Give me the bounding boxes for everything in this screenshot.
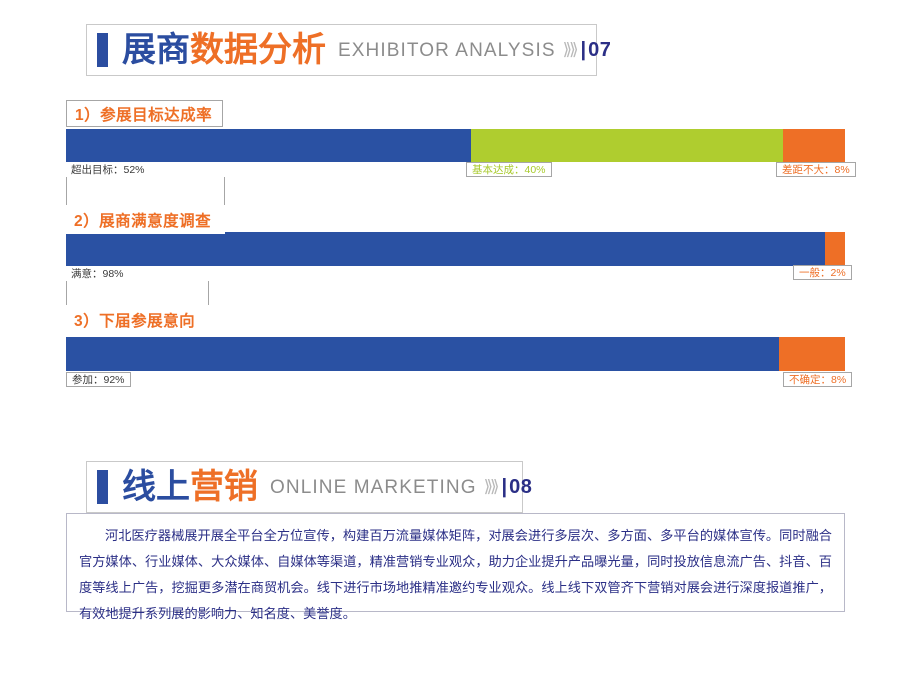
- bar-label-will-attend-text: 参加：92%: [72, 372, 125, 387]
- chart-heading-1-label: 1）参展目标达成率: [75, 103, 212, 125]
- bar-segment-satisfied: [66, 232, 825, 266]
- bar-label-basically-achieved: 基本达成：40%: [466, 162, 552, 177]
- bar-row-1: [66, 129, 845, 162]
- bar-label-satisfied: 满意：98%: [66, 266, 209, 281]
- bar-segment-small-gap: [783, 129, 845, 162]
- banner-title-cn-blue-2: 线上: [122, 468, 190, 506]
- bar-segment-basically-achieved: [471, 129, 783, 162]
- exhibitor-charts: 1）参展目标达成率 超出目标：52% 基本达成：40% 差距不大：8% 2）展商…: [0, 0, 910, 400]
- bar-row-2: [66, 232, 845, 266]
- bar-label-average-text: 一般：2%: [799, 265, 846, 280]
- banner-online-marketing: 线上营销 ONLINE MARKETING ⟫⟫ | 08: [86, 461, 523, 513]
- bar-label-will-attend: 参加：92%: [66, 372, 131, 387]
- banner-accent-bar-2: [97, 470, 108, 504]
- banner-title-en-2: ONLINE MARKETING: [270, 478, 477, 497]
- chart-heading-3-label: 3）下届参展意向: [74, 309, 195, 331]
- chevrons-icon-2: ⟫⟫: [484, 477, 497, 497]
- online-marketing-paragraph: 河北医疗器械展开展全平台全方位宣传，构建百万流量媒体矩阵，对展会进行多层次、多方…: [79, 524, 832, 628]
- chart-heading-1: 1）参展目标达成率: [66, 100, 223, 127]
- bar-label-basically-achieved-text: 基本达成：40%: [472, 162, 546, 177]
- bar-segment-average: [825, 232, 845, 266]
- bar-label-small-gap: 差距不大：8%: [776, 162, 856, 177]
- bar-segment-will-attend: [66, 337, 779, 371]
- slide-page: 展商数据分析 EXHIBITOR ANALYSIS ⟫⟫ | 07 1）参展目标…: [0, 0, 910, 695]
- banner-title-cn-orange-2: 营销: [190, 468, 258, 506]
- bar-label-exceeded-target-text: 超出目标：52%: [71, 162, 145, 177]
- banner-section-number-2: 08: [509, 477, 532, 497]
- bar-segment-uncertain: [779, 337, 845, 371]
- bar-label-uncertain-text: 不确定：8%: [789, 372, 846, 387]
- bar-row-3: [66, 337, 845, 371]
- bar-label-exceeded-target: 超出目标：52%: [66, 162, 225, 177]
- bar-label-uncertain: 不确定：8%: [783, 372, 852, 387]
- bar-label-small-gap-text: 差距不大：8%: [782, 162, 850, 177]
- bar-segment-exceeded-target: [66, 129, 471, 162]
- bar-label-satisfied-text: 满意：98%: [71, 266, 124, 281]
- banner-pipe-divider-2: |: [502, 476, 508, 499]
- chart-heading-3: 3）下届参展意向: [66, 305, 209, 334]
- online-marketing-text-box: 河北医疗器械展开展全平台全方位宣传，构建百万流量媒体矩阵，对展会进行多层次、多方…: [66, 513, 845, 612]
- bar-label-average: 一般：2%: [793, 265, 852, 280]
- chart-heading-2-label: 2）展商满意度调查: [74, 209, 211, 231]
- chart-heading-2: 2）展商满意度调查: [66, 205, 225, 234]
- banner-title-cn-2: 线上营销: [122, 470, 258, 504]
